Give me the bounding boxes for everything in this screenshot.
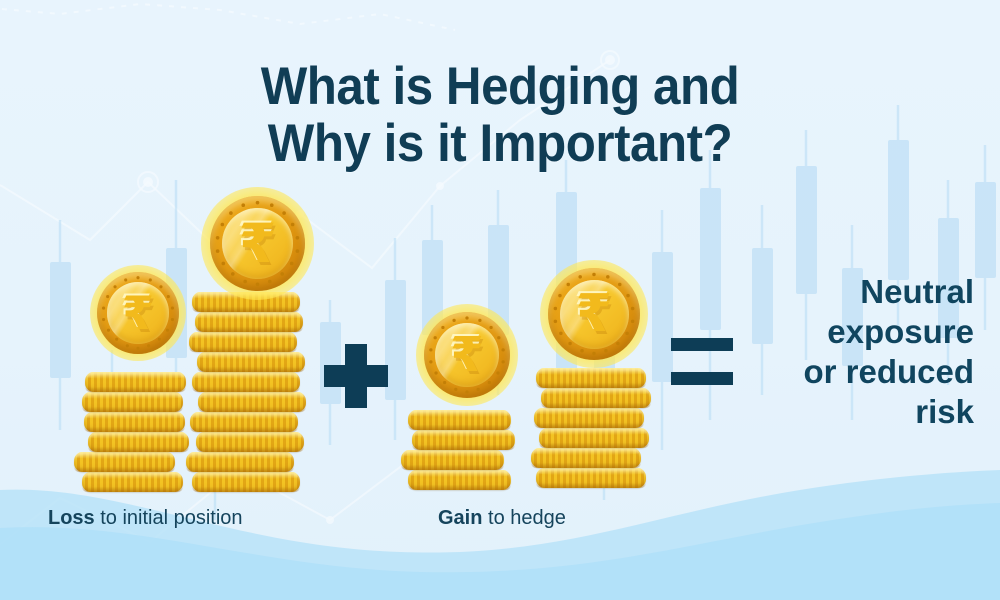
result-line-4: risk bbox=[738, 392, 974, 432]
stack-coin bbox=[84, 412, 185, 432]
equals-operator bbox=[671, 338, 733, 385]
rupee-symbol: ₹ bbox=[239, 217, 277, 271]
stack-coin bbox=[82, 472, 183, 492]
rupee-symbol: ₹ bbox=[122, 290, 154, 336]
stack-coin bbox=[186, 452, 294, 472]
stack-coin bbox=[401, 450, 504, 470]
stack-coin bbox=[195, 312, 303, 332]
loss-caption-bold: Loss bbox=[48, 507, 95, 529]
equals-bar-top bbox=[671, 338, 733, 351]
stack-coin bbox=[74, 452, 175, 472]
stack-coin bbox=[196, 432, 304, 452]
loss-short-coin: ₹ bbox=[97, 272, 179, 354]
stack-coin bbox=[541, 388, 651, 408]
plus-operator bbox=[324, 344, 388, 408]
stack-coin bbox=[408, 410, 511, 430]
coin-face: ₹ bbox=[435, 323, 500, 388]
infographic-canvas: What is Hedging and Why is it Important? bbox=[0, 0, 1000, 600]
rupee-symbol: ₹ bbox=[450, 331, 483, 379]
loss-tall-stack bbox=[192, 280, 300, 492]
loss-tall-coin: ₹ bbox=[210, 196, 305, 291]
title-line-1: What is Hedging and bbox=[261, 57, 740, 116]
stack-coin bbox=[88, 432, 189, 452]
stack-coin bbox=[534, 408, 644, 428]
result-text: Neutral exposure or reduced risk bbox=[738, 272, 974, 432]
loss-caption: Loss to initial position bbox=[48, 507, 243, 530]
stack-coin bbox=[197, 352, 305, 372]
stack-coin bbox=[190, 412, 298, 432]
stack-coin bbox=[536, 468, 646, 488]
stack-coin bbox=[539, 428, 649, 448]
gain-tall-stack bbox=[536, 356, 646, 492]
result-line-2: exposure bbox=[738, 312, 974, 352]
stack-coin bbox=[198, 392, 306, 412]
coin-face: ₹ bbox=[107, 282, 169, 344]
gain-caption-rest: to hedge bbox=[482, 507, 565, 529]
stack-coin bbox=[408, 470, 511, 490]
rupee-symbol: ₹ bbox=[576, 288, 612, 340]
equals-bar-bottom bbox=[671, 372, 733, 385]
stack-coin bbox=[412, 430, 515, 450]
gain-caption: Gain to hedge bbox=[438, 507, 566, 530]
result-line-1: Neutral bbox=[738, 272, 974, 312]
gain-caption-bold: Gain bbox=[438, 507, 482, 529]
stack-coin bbox=[82, 392, 183, 412]
gain-short-stack bbox=[408, 398, 511, 492]
stack-coin bbox=[85, 372, 186, 392]
loss-caption-rest: to initial position bbox=[95, 507, 243, 529]
stack-coin bbox=[192, 472, 300, 492]
coin-face: ₹ bbox=[560, 280, 629, 349]
stack-coin bbox=[189, 332, 297, 352]
coin-face: ₹ bbox=[222, 208, 293, 279]
result-line-3: or reduced bbox=[738, 352, 974, 392]
loss-short-stack bbox=[82, 360, 183, 492]
gain-tall-coin: ₹ bbox=[548, 268, 640, 360]
stack-coin bbox=[531, 448, 641, 468]
gain-short-coin: ₹ bbox=[424, 312, 510, 398]
title-line-2: Why is it Important? bbox=[35, 115, 965, 172]
plus-bar-vertical bbox=[345, 344, 367, 408]
page-title: What is Hedging and Why is it Important? bbox=[35, 58, 965, 172]
stack-coin bbox=[192, 372, 300, 392]
stack-coin bbox=[536, 368, 646, 388]
